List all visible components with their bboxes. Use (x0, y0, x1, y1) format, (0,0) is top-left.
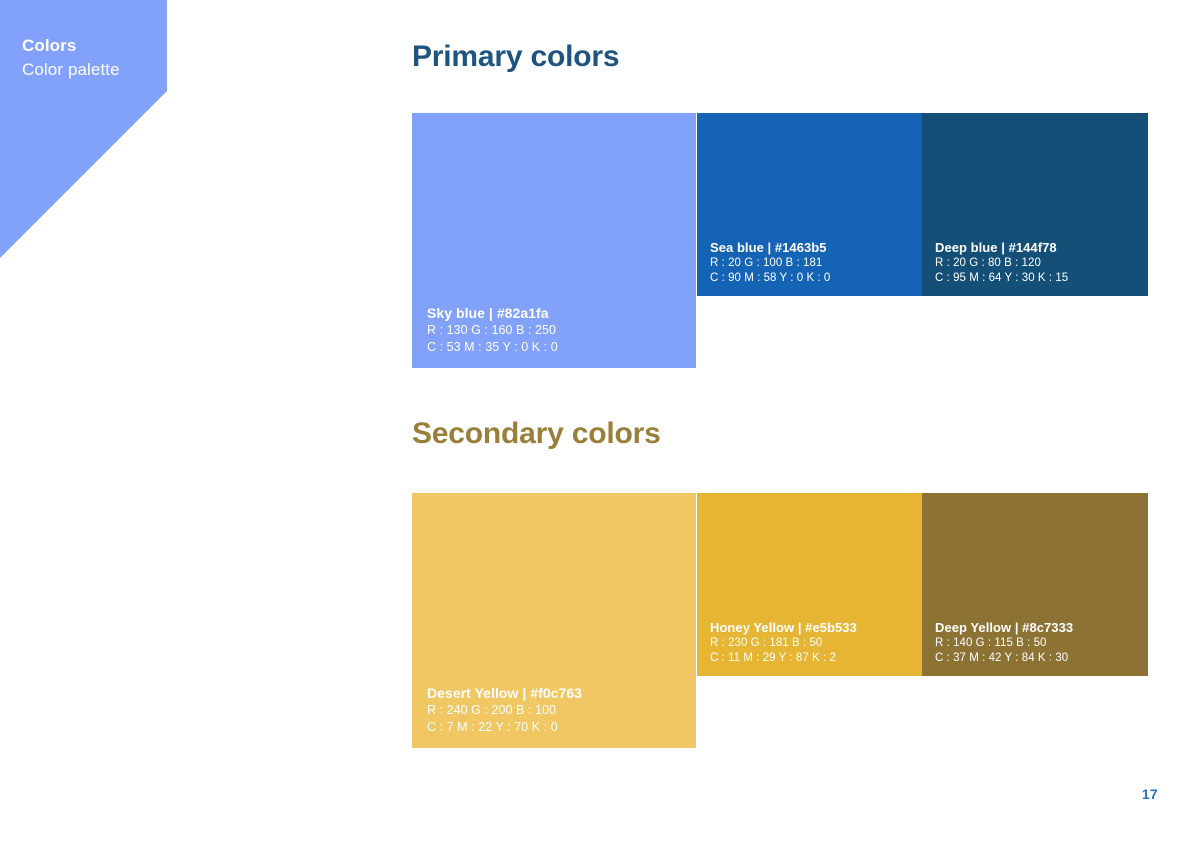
banner-subtitle: Color palette (22, 60, 120, 80)
swatch-name: Sky blue | #82a1fa (427, 304, 558, 322)
swatch-cmyk-values: C : 53 M : 35 Y : 0 K : 0 (427, 339, 558, 356)
swatch-rgb-values: R : 230 G : 181 B : 50 (710, 636, 857, 651)
swatch-caption: Sky blue | #82a1fa R : 130 G : 160 B : 2… (427, 304, 558, 355)
section-heading-primary: Primary colors (412, 40, 619, 74)
color-swatch-honey-yellow[interactable]: Honey Yellow | #e5b533 R : 230 G : 181 B… (697, 493, 922, 676)
swatch-rgb-values: R : 20 G : 80 B : 120 (935, 256, 1068, 271)
corner-banner: Colors Color palette (0, 0, 167, 258)
color-swatch-sea-blue[interactable]: Sea blue | #1463b5 R : 20 G : 100 B : 18… (697, 113, 922, 296)
swatch-name: Sea blue | #1463b5 (710, 239, 830, 256)
swatch-rgb-values: R : 140 G : 115 B : 50 (935, 636, 1073, 651)
swatch-caption: Honey Yellow | #e5b533 R : 230 G : 181 B… (710, 619, 857, 667)
swatch-cmyk-values: C : 90 M : 58 Y : 0 K : 0 (710, 271, 830, 286)
swatch-name: Deep Yellow | #8c7333 (935, 619, 1073, 636)
swatch-group-secondary: Desert Yellow | #f0c763 R : 240 G : 200 … (412, 493, 1148, 748)
swatch-caption: Deep Yellow | #8c7333 R : 140 G : 115 B … (935, 619, 1073, 667)
color-swatch-deep-blue[interactable]: Deep blue | #144f78 R : 20 G : 80 B : 12… (922, 113, 1148, 296)
swatch-cmyk-values: C : 37 M : 42 Y : 84 K : 30 (935, 651, 1073, 666)
section-heading-secondary: Secondary colors (412, 417, 661, 451)
swatch-rgb-values: R : 240 G : 200 B : 100 (427, 702, 582, 719)
color-swatch-desert-yellow[interactable]: Desert Yellow | #f0c763 R : 240 G : 200 … (412, 493, 696, 748)
swatch-rgb-values: R : 130 G : 160 B : 250 (427, 322, 558, 339)
page-number: 17 (1142, 786, 1158, 802)
swatch-group-primary: Sky blue | #82a1fa R : 130 G : 160 B : 2… (412, 113, 1148, 368)
swatch-cmyk-values: C : 95 M : 64 Y : 30 K : 15 (935, 271, 1068, 286)
swatch-name: Desert Yellow | #f0c763 (427, 684, 582, 702)
swatch-rgb-values: R : 20 G : 100 B : 181 (710, 256, 830, 271)
swatch-cmyk-values: C : 7 M : 22 Y : 70 K : 0 (427, 719, 582, 736)
color-swatch-deep-yellow[interactable]: Deep Yellow | #8c7333 R : 140 G : 115 B … (922, 493, 1148, 676)
swatch-caption: Desert Yellow | #f0c763 R : 240 G : 200 … (427, 684, 582, 735)
swatch-name: Honey Yellow | #e5b533 (710, 619, 857, 636)
swatch-cmyk-values: C : 11 M : 29 Y : 87 K : 2 (710, 651, 857, 666)
swatch-name: Deep blue | #144f78 (935, 239, 1068, 256)
color-swatch-sky-blue[interactable]: Sky blue | #82a1fa R : 130 G : 160 B : 2… (412, 113, 696, 368)
swatch-caption: Sea blue | #1463b5 R : 20 G : 100 B : 18… (710, 239, 830, 287)
swatch-caption: Deep blue | #144f78 R : 20 G : 80 B : 12… (935, 239, 1068, 287)
banner-title: Colors (22, 36, 76, 56)
